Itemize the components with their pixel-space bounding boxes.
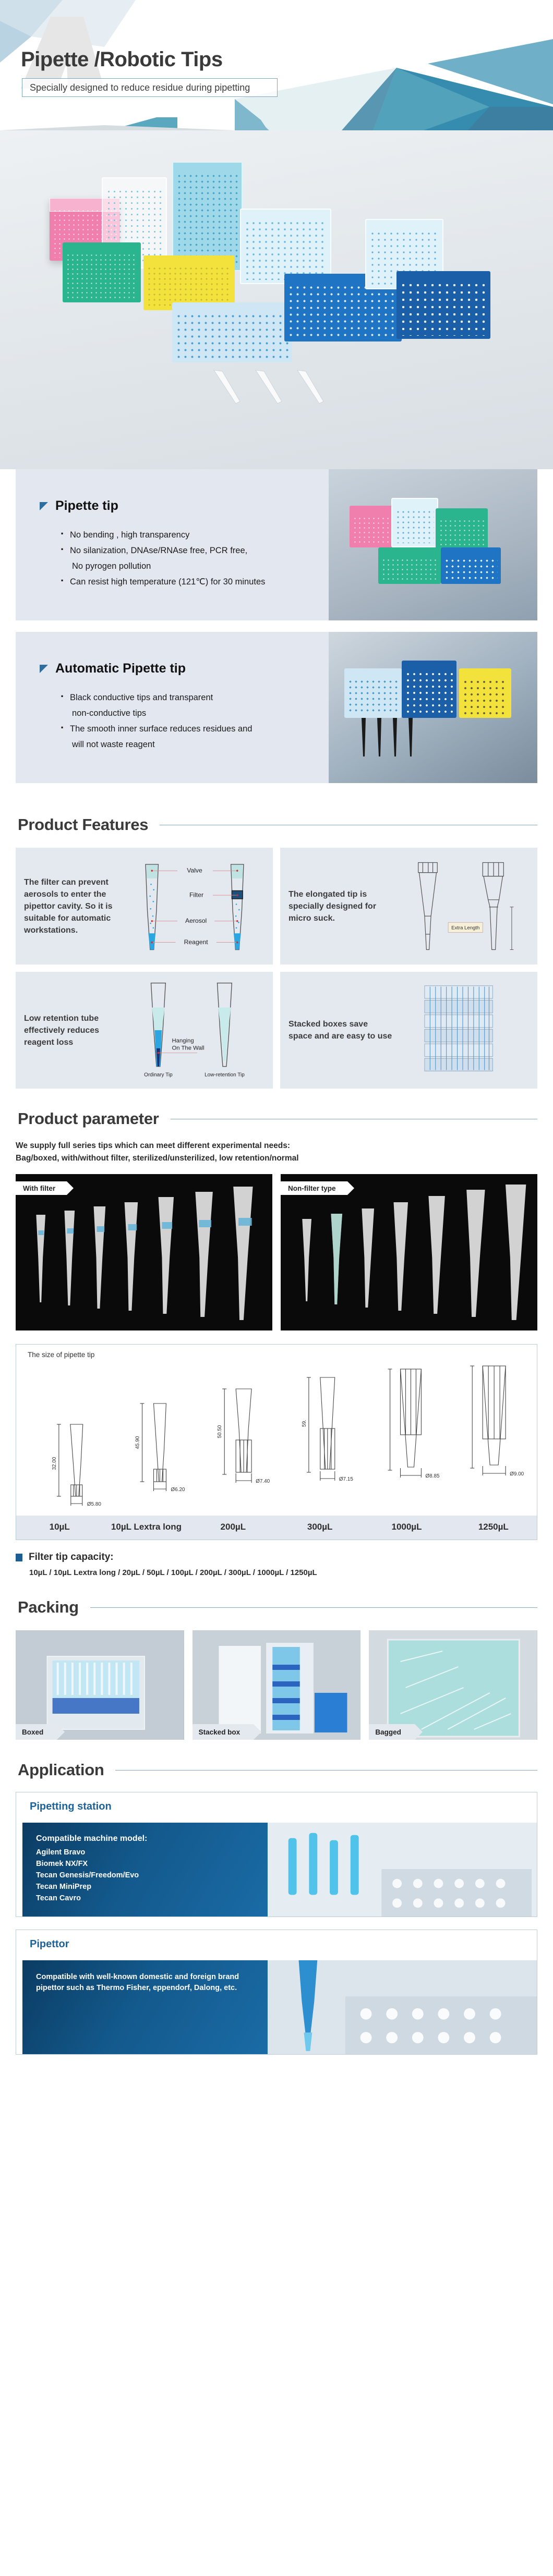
pipetting-station-photo: [268, 1823, 537, 1916]
model-item: Tecan Genesis/Freedom/Evo: [36, 1870, 268, 1881]
packing-grid: Boxed Stacked box: [16, 1630, 537, 1740]
square-bullet-icon: [16, 1554, 22, 1561]
section-header-application: Application: [16, 1761, 537, 1779]
application-card-title: Pipetting station: [16, 1792, 537, 1813]
photo-rack-green: [436, 508, 488, 553]
low-retention-diagram-icon: Hanging On The Wall Ordinary Tip Low-ret…: [128, 972, 265, 1089]
size-label: 10µL Lextra long: [103, 1516, 189, 1540]
section-rule: [115, 1770, 537, 1771]
section-rule: [160, 825, 537, 825]
product-parameter-photos: With filter: [16, 1174, 537, 1330]
svg-text:On The Wall: On The Wall: [172, 1045, 205, 1051]
model-item: Agilent Bravo: [36, 1847, 268, 1858]
photo-with-filter: With filter: [16, 1174, 272, 1330]
svg-text:Filter: Filter: [189, 892, 203, 899]
size-label: 1250µL: [450, 1516, 537, 1540]
svg-text:Ø7.15: Ø7.15: [339, 1476, 354, 1482]
photo-tag: Non-filter type: [281, 1181, 347, 1195]
feature-bullet-list: No bending , high transparency No silani…: [61, 527, 329, 590]
feature-card-text: Stacked boxes save space and are easy to…: [288, 1018, 393, 1042]
svg-text:32.00: 32.00: [52, 1457, 57, 1470]
packing-card-bagged: Bagged: [369, 1630, 537, 1740]
section-header-product-features: Product Features: [16, 815, 537, 834]
svg-text:59.: 59.: [302, 1420, 307, 1427]
feature-block-automatic-pipette-tip: Automatic Pipette tip Black conductive t…: [16, 632, 537, 783]
product-page: Pipette /Robotic Tips Specially designed…: [0, 0, 553, 2076]
stacked-boxes-diagram-icon: [393, 972, 529, 1089]
model-item: Tecan Cavro: [36, 1893, 268, 1904]
size-label: 200µL: [190, 1516, 276, 1540]
svg-text:Ø6.20: Ø6.20: [171, 1487, 185, 1493]
list-item: will not waste reagent: [61, 737, 329, 752]
svg-text:45.90: 45.90: [135, 1436, 141, 1449]
polygon-decoration: [0, 0, 553, 151]
size-chart-labels: 10µL 10µL Lextra long 200µL 300µL 1000µL…: [16, 1516, 537, 1540]
feature-card-low-retention: Low retention tube effectively reduces r…: [16, 972, 273, 1089]
hero-banner: Pipette /Robotic Tips Specially designed…: [0, 0, 553, 469]
list-item: non-conductive tips: [61, 705, 329, 721]
packing-label: Stacked box: [193, 1724, 254, 1740]
svg-text:Ordinary Tip: Ordinary Tip: [144, 1072, 173, 1078]
intro-line-1: We supply full series tips which can mee…: [16, 1140, 537, 1152]
size-label: 10µL: [16, 1516, 103, 1540]
photo-rack-clear: [391, 498, 438, 547]
list-item: No bending , high transparency: [61, 527, 329, 543]
svg-text:Ø5.80: Ø5.80: [87, 1501, 102, 1507]
section-title: Product Features: [18, 815, 148, 834]
feature-heading: Automatic Pipette tip: [40, 661, 329, 676]
application-card-title: Pipettor: [16, 1930, 537, 1950]
feature-block-pipette-tip: Pipette tip No bending , high transparen…: [16, 469, 537, 620]
size-chart-drawings: 32.00 Ø5.80 45.90: [22, 1362, 531, 1516]
photo-rack-yellow: [459, 668, 511, 718]
packing-label: Bagged: [369, 1724, 415, 1740]
svg-text:Valve: Valve: [187, 867, 202, 874]
photo-non-filter: Non-filter type: [281, 1174, 537, 1330]
black-conductive-tips: [357, 718, 425, 760]
section-title: Packing: [18, 1598, 79, 1617]
feature-card-text: The filter can prevent aerosols to enter…: [24, 876, 128, 936]
packing-label: Boxed: [16, 1724, 57, 1740]
capacity-values: 10µL / 10µL Lextra long / 20µL / 50µL / …: [29, 1568, 537, 1577]
section-title: Product parameter: [18, 1109, 159, 1128]
photo-rack-green-2: [378, 547, 441, 584]
tip-rack-lightblue: [240, 209, 331, 284]
feature-card-filter: The filter can prevent aerosols to enter…: [16, 848, 273, 965]
size-label: 300µL: [276, 1516, 363, 1540]
packing-card-boxed: Boxed: [16, 1630, 184, 1740]
section-rule: [171, 1119, 537, 1119]
hero-product-photo: [0, 130, 553, 469]
pipettor-photo: [268, 1960, 537, 2054]
tip-rack-cyan: [172, 162, 243, 271]
feature-bullet-list: Black conductive tips and transparent no…: [61, 690, 329, 752]
pipettor-description: Compatible with well-known domestic and …: [36, 1972, 268, 1994]
feature-photo-automatic-tips: [329, 632, 537, 783]
photo-rack-blue: [441, 547, 501, 584]
compatible-models-label: Compatible machine model:: [36, 1834, 268, 1844]
feature-block-text: Pipette tip No bending , high transparen…: [16, 469, 329, 620]
boxed-photo: [16, 1630, 184, 1740]
capacity-label: Filter tip capacity:: [29, 1552, 114, 1563]
packing-card-stacked: Stacked box: [193, 1630, 361, 1740]
triangle-marker-icon: [40, 502, 48, 510]
list-item: The smooth inner surface reduces residue…: [61, 721, 329, 737]
capacity-heading: Filter tip capacity:: [16, 1552, 537, 1563]
svg-text:Low-retention Tip: Low-retention Tip: [205, 1072, 245, 1078]
elongated-tip-diagram-icon: Extra Length: [393, 848, 529, 965]
svg-text:Reagent: Reagent: [184, 938, 209, 946]
triangle-marker-icon: [40, 665, 48, 673]
feature-heading-label: Pipette tip: [55, 498, 118, 514]
photo-rack-lightblue: [344, 668, 402, 718]
filter-tips-silhouettes: [16, 1174, 272, 1330]
svg-text:Ø9.00: Ø9.00: [510, 1471, 524, 1477]
feature-card-text: The elongated tip is specially designed …: [288, 888, 393, 924]
size-chart: The size of pipette tip 32.00 Ø5.80: [16, 1344, 537, 1540]
product-features-grid: The filter can prevent aerosols to enter…: [16, 848, 537, 1089]
model-item: Biomek NX/FX: [36, 1858, 268, 1870]
svg-text:Hanging: Hanging: [172, 1037, 194, 1044]
svg-text:Ø7.40: Ø7.40: [256, 1479, 270, 1484]
section-header-packing: Packing: [16, 1598, 537, 1617]
feature-block-text: Automatic Pipette tip Black conductive t…: [16, 632, 329, 783]
intro-line-2: Bag/boxed, with/without filter, steriliz…: [16, 1152, 537, 1165]
section-header-product-parameter: Product parameter: [16, 1109, 537, 1128]
section-title: Application: [18, 1761, 104, 1779]
model-item: Tecan MiniPrep: [36, 1881, 268, 1893]
page-subtitle-text: Specially designed to reduce residue dur…: [30, 82, 250, 93]
filter-tip-diagram-icon: Valve Filter Aerosol Reagent: [128, 848, 265, 965]
non-filter-tips-silhouettes: [281, 1174, 537, 1330]
list-item: No silanization, DNAse/RNAse free, PCR f…: [61, 543, 329, 558]
product-parameter-intro: We supply full series tips which can mee…: [16, 1140, 537, 1165]
page-subtitle: Specially designed to reduce residue dur…: [22, 78, 278, 97]
tip-rack-right-blue: [396, 271, 490, 339]
tip-rack-front: [172, 302, 292, 362]
loose-tips: [209, 365, 355, 412]
list-item: Can resist high temperature (121℃) for 3…: [61, 574, 329, 590]
section-rule: [90, 1607, 537, 1608]
feature-card-text: Low retention tube effectively reduces r…: [24, 1012, 128, 1048]
application-card-pipettor: Pipettor Compatible with well-known dome…: [16, 1930, 537, 2055]
size-label: 1000µL: [363, 1516, 450, 1540]
feature-card-elongated: The elongated tip is specially designed …: [280, 848, 537, 965]
stacked-box-photo: [193, 1630, 361, 1740]
application-card-content: Compatible machine model: Agilent Bravo …: [22, 1823, 268, 1916]
svg-text:Aerosol: Aerosol: [185, 917, 207, 924]
feature-heading-label: Automatic Pipette tip: [55, 661, 186, 676]
application-card-content: Compatible with well-known domestic and …: [22, 1960, 268, 2054]
size-chart-title: The size of pipette tip: [16, 1345, 537, 1362]
list-item: Black conductive tips and transparent: [61, 690, 329, 705]
svg-text:Ø8.85: Ø8.85: [425, 1473, 440, 1479]
application-card-pipetting-station: Pipetting station Compatible machine mod…: [16, 1792, 537, 1917]
feature-photo-pipette-tips: [329, 469, 537, 620]
feature-card-stacked-boxes: Stacked boxes save space and are easy to…: [280, 972, 537, 1089]
page-title: Pipette /Robotic Tips: [21, 48, 223, 71]
bagged-photo: [369, 1630, 537, 1740]
svg-text:50.50: 50.50: [217, 1425, 223, 1438]
feature-heading: Pipette tip: [40, 498, 329, 514]
svg-text:Extra Length: Extra Length: [451, 925, 479, 931]
photo-rack-darkblue: [402, 661, 456, 718]
photo-tag: With filter: [16, 1181, 67, 1195]
list-item: No pyrogen pollution: [61, 558, 329, 574]
tip-rack-green: [63, 242, 141, 302]
filter-tip-capacity: Filter tip capacity: 10µL / 10µL Lextra …: [16, 1552, 537, 1577]
